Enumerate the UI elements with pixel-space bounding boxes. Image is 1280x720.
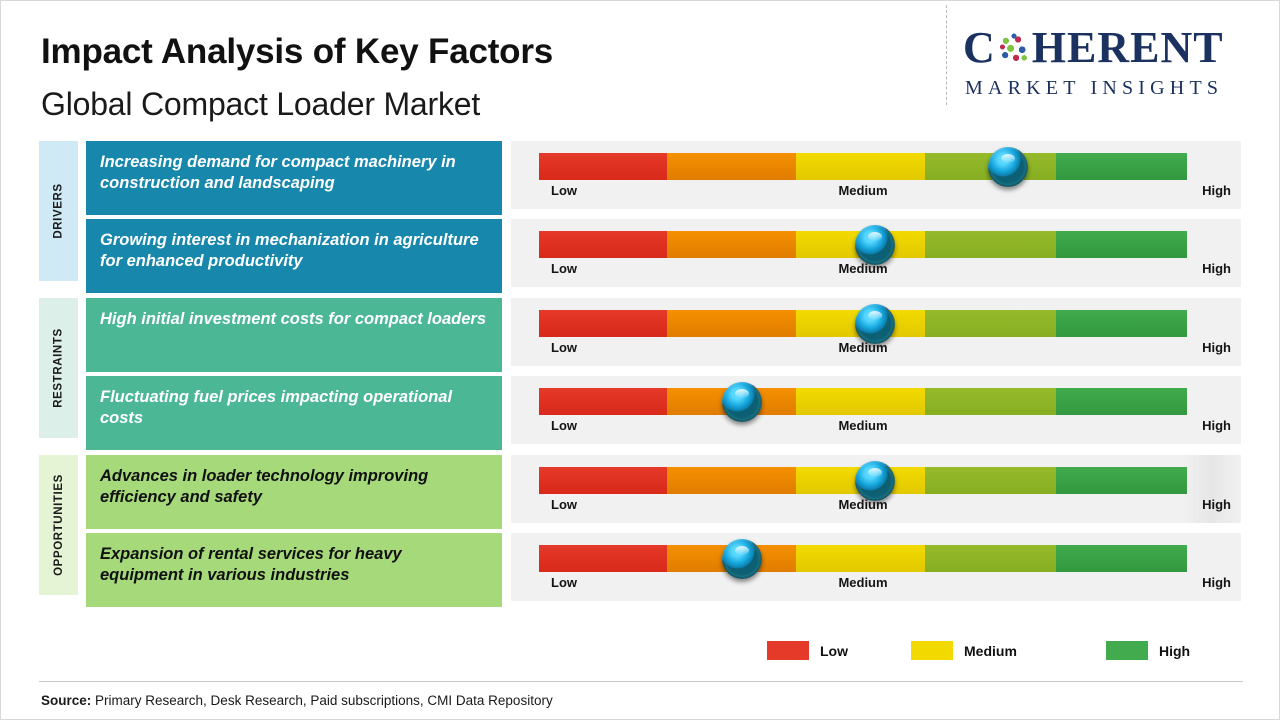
gauge-bar (539, 388, 1187, 415)
gauge-segment-medium (796, 545, 925, 572)
gauge-segment-midhigh (925, 388, 1056, 415)
legend: Low Medium High (1, 641, 1280, 675)
gauge-segment-high (1056, 467, 1187, 494)
logo-tagline: MARKET INSIGHTS (965, 77, 1265, 100)
gauge-segment-midhigh (925, 231, 1056, 258)
gauge-segment-high (1056, 231, 1187, 258)
gauge-marker[interactable] (988, 147, 1028, 187)
impact-gauge-row: Low Medium High (511, 533, 1241, 601)
gauge-scale: Low Medium High (511, 497, 1241, 517)
scale-label-high: High (1202, 575, 1231, 590)
gauge-segment-low (539, 310, 667, 337)
factor-card[interactable]: Growing interest in mechanization in agr… (86, 219, 502, 293)
scale-label-high: High (1202, 261, 1231, 276)
gauge-segment-low (539, 467, 667, 494)
scale-label-medium: Medium (838, 418, 887, 433)
gauge-segment-midhigh (925, 310, 1056, 337)
gauge-bar (539, 545, 1187, 572)
gauge-marker[interactable] (855, 225, 895, 265)
gauge-bar (539, 153, 1187, 180)
source-note: Source: Primary Research, Desk Research,… (41, 693, 553, 708)
gauge-segment-midhigh (925, 545, 1056, 572)
gauge-scale: Low Medium High (511, 575, 1241, 595)
impact-gauge-row: Low Medium High (511, 298, 1241, 366)
logo-word-pre: C (963, 25, 996, 71)
gauge-marker[interactable] (722, 382, 762, 422)
legend-label-high: High (1159, 643, 1190, 659)
gauge-segment-lowmid (667, 231, 796, 258)
gauge-segment-high (1056, 153, 1187, 180)
scale-label-low: Low (551, 183, 577, 198)
gauge-scale: Low Medium High (511, 183, 1241, 203)
legend-swatch-medium-icon (911, 641, 953, 660)
gauge-segment-medium (796, 153, 925, 180)
gauge-segment-lowmid (667, 467, 796, 494)
logo-divider (946, 5, 947, 105)
legend-label-medium: Medium (964, 643, 1017, 659)
category-label-opportunities: OPPORTUNITIES (39, 455, 78, 595)
gauge-segment-lowmid (667, 310, 796, 337)
gauge-marker[interactable] (855, 304, 895, 344)
category-label-restraints: RESTRAINTS (39, 298, 78, 438)
gauge-scale: Low Medium High (511, 418, 1241, 438)
scale-label-low: Low (551, 418, 577, 433)
slide-canvas: Impact Analysis of Key Factors Global Co… (0, 0, 1280, 720)
logo-word-post: HERENT (1032, 25, 1224, 71)
scale-label-medium: Medium (838, 183, 887, 198)
page-subtitle: Global Compact Loader Market (41, 86, 480, 123)
category-label-restraints-text: RESTRAINTS (53, 328, 65, 407)
footer-divider (39, 681, 1243, 682)
gauge-segment-midhigh (925, 467, 1056, 494)
globe-dots-icon (997, 32, 1031, 66)
source-label: Source: (41, 693, 91, 708)
factor-card[interactable]: Fluctuating fuel prices impacting operat… (86, 376, 502, 450)
impact-gauge-row: Low Medium High (511, 219, 1241, 287)
legend-swatch-low-icon (767, 641, 809, 660)
gauge-marker[interactable] (722, 539, 762, 579)
impact-gauge-row: Low Medium High (511, 141, 1241, 209)
scale-label-medium: Medium (838, 340, 887, 355)
gauge-segment-high (1056, 310, 1187, 337)
scale-label-medium: Medium (838, 261, 887, 276)
scale-label-high: High (1202, 183, 1231, 198)
gauge-segment-low (539, 231, 667, 258)
factor-card[interactable]: Expansion of rental services for heavy e… (86, 533, 502, 607)
legend-label-low: Low (820, 643, 848, 659)
gauge-segment-low (539, 153, 667, 180)
scale-label-high: High (1202, 418, 1231, 433)
gauge-scale: Low Medium High (511, 261, 1241, 281)
category-label-drivers: DRIVERS (39, 141, 78, 281)
scale-label-low: Low (551, 261, 577, 276)
header: Impact Analysis of Key Factors Global Co… (1, 1, 1280, 133)
legend-item-high: High (1106, 641, 1190, 660)
scale-label-high: High (1202, 497, 1231, 512)
logo-wordmark: CHERENT (963, 25, 1263, 71)
legend-item-low: Low (767, 641, 848, 660)
impact-gauge-row: Low Medium High (511, 376, 1241, 444)
gauge-segment-medium (796, 388, 925, 415)
page-title: Impact Analysis of Key Factors (41, 32, 553, 72)
source-text: Primary Research, Desk Research, Paid su… (95, 693, 553, 708)
gauge-scale: Low Medium High (511, 340, 1241, 360)
scale-label-low: Low (551, 497, 577, 512)
gauge-segment-high (1056, 388, 1187, 415)
category-label-opportunities-text: OPPORTUNITIES (53, 474, 65, 576)
factor-card[interactable]: Advances in loader technology improving … (86, 455, 502, 529)
factor-card[interactable]: Increasing demand for compact machinery … (86, 141, 502, 215)
scale-label-medium: Medium (838, 575, 887, 590)
category-label-drivers-text: DRIVERS (53, 183, 65, 238)
scale-label-high: High (1202, 340, 1231, 355)
gauge-segment-low (539, 388, 667, 415)
scale-label-medium: Medium (838, 497, 887, 512)
legend-swatch-high-icon (1106, 641, 1148, 660)
company-logo: CHERENT MARKET INSIGHTS (963, 25, 1263, 107)
impact-gauge-row: Low Medium High (511, 455, 1241, 523)
gauge-segment-low (539, 545, 667, 572)
factor-card[interactable]: High initial investment costs for compac… (86, 298, 502, 372)
gauge-segment-lowmid (667, 153, 796, 180)
legend-item-medium: Medium (911, 641, 1017, 660)
gauge-marker[interactable] (855, 461, 895, 501)
scale-label-low: Low (551, 575, 577, 590)
gauge-segment-high (1056, 545, 1187, 572)
impact-matrix: DRIVERS RESTRAINTS OPPORTUNITIES Increas… (1, 141, 1280, 611)
scale-label-low: Low (551, 340, 577, 355)
